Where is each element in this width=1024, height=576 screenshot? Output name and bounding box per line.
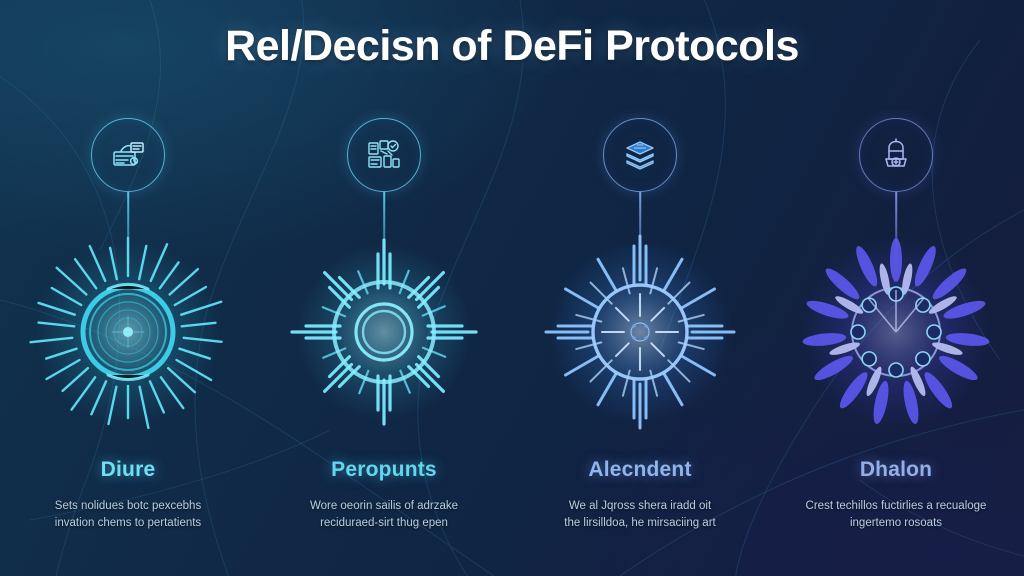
icon-badge-4[interactable]	[859, 118, 933, 192]
column-description-3: We al Jqross shera iradd oit the lirsill…	[512, 498, 768, 532]
burst-graphic-1	[22, 232, 234, 432]
column-heading-4: Dhalon	[768, 458, 1024, 482]
desc-line-2: invation chems to pertatients	[12, 515, 244, 532]
column-heading-3: Alecndent	[512, 458, 768, 482]
burst-graphic-3	[534, 232, 746, 432]
column-4: Dhalon Crest techillos fuctirlies a recu…	[768, 0, 1024, 576]
desc-line-1: Crest techillos fuctirlies a recualoge	[780, 498, 1012, 515]
desc-line-2: ingertemo rosoats	[780, 515, 1012, 532]
column-heading-1: Diure	[0, 458, 256, 482]
column-3: Alecndent We al Jqross shera iradd oit t…	[512, 0, 768, 576]
icon-badge-2[interactable]	[347, 118, 421, 192]
column-heading-2: Peropunts	[256, 458, 512, 482]
column-description-2: Wore oeorin sailis of adrzake reciduraed…	[256, 498, 512, 532]
document-card-icon	[108, 135, 148, 175]
column-description-4: Crest techillos fuctirlies a recualoge i…	[768, 498, 1024, 532]
desc-line-1: Sets nolidues botc pexcebhs	[12, 498, 244, 515]
desc-line-2: the lirsilldoa, he mirsaciing art	[524, 515, 756, 532]
burst-graphic-4	[790, 232, 1002, 432]
infographic-canvas: Rel/Decisn of DeFi Protocols	[0, 0, 1024, 576]
column-2: Peropunts Wore oeorin sailis of adrzake …	[256, 0, 512, 576]
desc-line-2: reciduraed-sirt thug epen	[268, 515, 500, 532]
desc-line-1: We al Jqross shera iradd oit	[524, 498, 756, 515]
vault-lock-icon	[876, 135, 916, 175]
icon-badge-1[interactable]	[91, 118, 165, 192]
data-cluster-icon	[364, 135, 404, 175]
column-description-1: Sets nolidues botc pexcebhs invation che…	[0, 498, 256, 532]
icon-badge-3[interactable]	[603, 118, 677, 192]
layers-stack-icon	[620, 135, 660, 175]
burst-graphic-2	[278, 232, 490, 432]
column-1: Diure Sets nolidues botc pexcebhs invati…	[0, 0, 256, 576]
columns-container: Diure Sets nolidues botc pexcebhs invati…	[0, 0, 1024, 576]
desc-line-1: Wore oeorin sailis of adrzake	[268, 498, 500, 515]
